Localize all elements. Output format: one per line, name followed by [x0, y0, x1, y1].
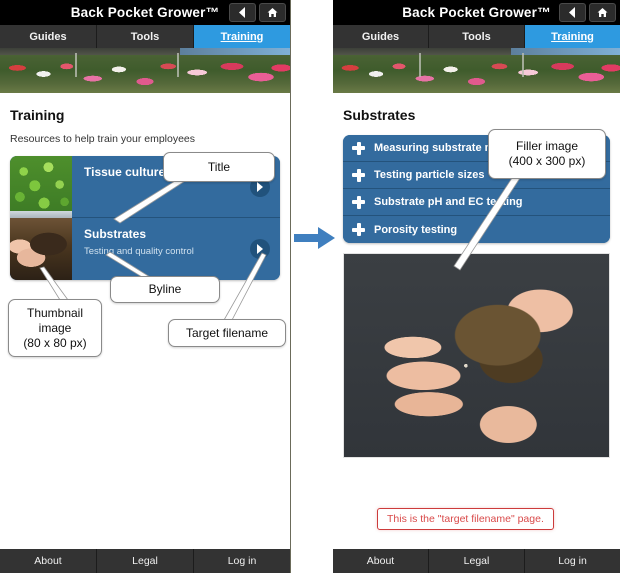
callout-filler-line2: (400 x 300 px) [509, 154, 586, 169]
screenshot-stage: Back Pocket Grower™ Guides Tools [0, 0, 620, 573]
callout-thumbnail-line2: image [39, 321, 72, 336]
callout-target-filename-label: Target filename [186, 326, 268, 341]
callout-filler-line1: Filler image [516, 139, 578, 154]
callout-thumbnail-line1: Thumbnail [27, 306, 83, 321]
callout-byline-label: Byline [149, 282, 182, 297]
callout-title-label: Title [208, 160, 230, 175]
callout-target-filename: Target filename [168, 319, 286, 347]
annotation-leader-lines [0, 0, 620, 573]
callout-filler-image: Filler image (400 x 300 px) [488, 129, 606, 179]
callout-title: Title [163, 152, 275, 182]
callout-byline: Byline [110, 276, 220, 303]
callout-thumbnail-line3: (80 x 80 px) [23, 336, 86, 351]
callout-thumbnail: Thumbnail image (80 x 80 px) [8, 299, 102, 357]
